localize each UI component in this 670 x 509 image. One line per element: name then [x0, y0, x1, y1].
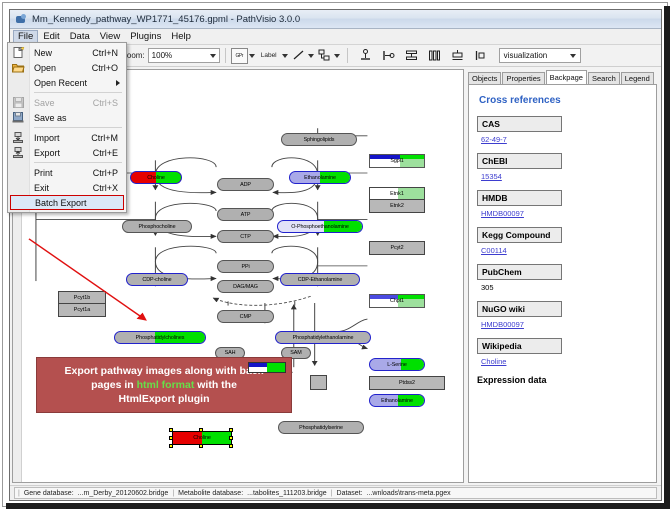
status-gene-db-label: Gene database:	[24, 490, 74, 497]
menu-item-label: Export	[34, 148, 60, 158]
xref-value-chebi[interactable]: 15354	[481, 172, 648, 181]
menu-item-accelerator: Ctrl+O	[92, 63, 118, 73]
stack-icon	[428, 49, 441, 62]
menu-item-export[interactable]: Export Ctrl+E	[8, 145, 126, 160]
shape-button[interactable]	[316, 48, 333, 64]
chevron-down-icon	[210, 54, 216, 58]
import-icon	[12, 132, 25, 143]
menu-item-accelerator: Ctrl+P	[93, 168, 118, 178]
save-disk-icon	[12, 97, 25, 108]
label-button-text: Label	[261, 52, 277, 59]
menu-item-batch-export[interactable]: Batch Export	[10, 195, 124, 210]
menu-item-import[interactable]: Import Ctrl+M	[8, 130, 126, 145]
status-bar: | Gene database: ...m_Derby_20120602.bri…	[10, 485, 661, 500]
geneproduct-dropdown[interactable]	[248, 48, 257, 64]
align-middle-button[interactable]	[380, 48, 397, 64]
menu-item-save: Save Ctrl+S	[8, 95, 126, 110]
status-bar-content: | Gene database: ...m_Derby_20120602.bri…	[14, 487, 657, 499]
menu-separator	[34, 92, 122, 93]
cross-references-heading: Cross references	[479, 95, 648, 106]
backpage-content[interactable]: Cross references CAS 62-49-7 ChEBI 15354…	[468, 84, 657, 483]
status-gene-db-value: ...m_Derby_20120602.bridge	[78, 490, 169, 497]
order-button[interactable]	[472, 48, 489, 64]
xref-value-pubchem: 305	[481, 283, 648, 292]
menu-item-print[interactable]: Print Ctrl+P	[8, 165, 126, 180]
menu-item-label: Exit	[34, 183, 49, 193]
toolbar-separator-2	[347, 48, 348, 63]
node-anchor-box[interactable]	[310, 375, 327, 390]
tab-backpage[interactable]: Backpage	[546, 70, 587, 84]
status-metabolite-db-value: ...tabolites_111203.bridge	[247, 490, 327, 497]
save-as-icon	[12, 112, 25, 123]
side-panel: Objects Properties Backpage Search Legen…	[466, 69, 659, 483]
menu-item-new[interactable]: New Ctrl+N	[8, 45, 126, 60]
line-icon	[292, 49, 305, 62]
status-divider: |	[18, 490, 20, 497]
menu-separator	[34, 127, 122, 128]
menu-item-accelerator: Ctrl+E	[93, 148, 118, 158]
stack-button[interactable]	[426, 48, 443, 64]
menu-item-label: Batch Export	[35, 198, 87, 208]
visualization-combo[interactable]: visualization	[499, 48, 581, 63]
zoom-combo[interactable]: 100%	[148, 48, 220, 63]
status-divider: |	[172, 490, 174, 497]
xref-value-cas[interactable]: 62-49-7	[481, 135, 648, 144]
geneproduct-button[interactable]: GPr	[231, 48, 248, 64]
menu-item-exit[interactable]: Exit Ctrl+X	[8, 180, 126, 195]
pathvisio-icon	[15, 13, 27, 25]
menu-item-save-as[interactable]: Save as	[8, 110, 126, 125]
tab-objects[interactable]: Objects	[468, 72, 501, 84]
distribute-icon	[405, 49, 418, 62]
menu-item-open-recent[interactable]: Open Recent	[8, 75, 126, 90]
align-top-icon	[359, 49, 372, 62]
menu-item-label: New	[34, 48, 52, 58]
menu-item-label: Save as	[34, 113, 67, 123]
status-divider: |	[331, 490, 333, 497]
shape-dropdown[interactable]	[333, 48, 342, 64]
status-metabolite-db-label: Metabolite database:	[178, 490, 243, 497]
geneproduct-icon: GPr	[235, 53, 242, 59]
tab-legend[interactable]: Legend	[621, 72, 654, 84]
frame-shadow-bottom	[6, 503, 670, 509]
xref-header-wikipedia: Wikipedia	[477, 338, 562, 354]
xref-value-kegg-compound[interactable]: C00114	[481, 246, 648, 255]
xref-header-kegg-compound: Kegg Compound	[477, 227, 562, 243]
xref-header-pubchem: PubChem	[477, 264, 562, 280]
menu-item-accelerator: Ctrl+X	[93, 183, 118, 193]
menu-item-label: Print	[34, 168, 53, 178]
menu-item-label: Import	[34, 133, 60, 143]
frame-shadow-right	[664, 6, 670, 509]
shape-icon	[318, 49, 331, 62]
xref-value-hmdb[interactable]: HMDB00097	[481, 209, 648, 218]
menu-separator	[34, 162, 122, 163]
expression-data-heading: Expression data	[477, 375, 648, 385]
zoom-value: 100%	[152, 51, 172, 60]
status-dataset-label: Dataset:	[337, 490, 363, 497]
menu-item-label: Open Recent	[34, 78, 87, 88]
screenshot-root: Mm_Kennedy_pathway_WP1771_45176.gpml - P…	[0, 0, 670, 509]
node-pemt[interactable]	[248, 362, 286, 373]
tab-properties[interactable]: Properties	[502, 72, 544, 84]
export-icon	[12, 147, 25, 158]
visualization-value: visualization	[504, 51, 548, 60]
label-button[interactable]: Label	[257, 48, 281, 64]
xref-header-cas: CAS	[477, 116, 562, 132]
distribute-button[interactable]	[403, 48, 420, 64]
order-icon	[474, 49, 487, 62]
status-dataset-value: ...wnloads\trans-meta.pgex	[367, 490, 451, 497]
menu-item-label: Open	[34, 63, 56, 73]
xref-value-nugo-wiki[interactable]: HMDB00097	[481, 320, 648, 329]
open-folder-icon	[12, 62, 25, 73]
group-icon	[451, 49, 464, 62]
group-button[interactable]	[449, 48, 466, 64]
menu-item-accelerator: Ctrl+N	[92, 48, 118, 58]
side-panel-tabs: Objects Properties Backpage Search Legen…	[466, 69, 659, 84]
menu-item-accelerator: Ctrl+S	[93, 98, 118, 108]
window-title: Mm_Kennedy_pathway_WP1771_45176.gpml - P…	[32, 14, 300, 25]
align-middle-icon	[382, 49, 395, 62]
label-dropdown[interactable]	[281, 48, 290, 64]
menu-plugins[interactable]: Plugins	[125, 30, 166, 43]
submenu-arrow-icon	[116, 80, 120, 86]
new-file-icon	[12, 47, 25, 58]
xref-header-chebi: ChEBI	[477, 153, 562, 169]
xref-value-wikipedia[interactable]: Choline	[481, 357, 648, 366]
tab-search[interactable]: Search	[588, 72, 620, 84]
file-menu-dropdown[interactable]: New Ctrl+N Open Ctrl+O Open Recent Save …	[7, 42, 127, 213]
menu-item-accelerator: Ctrl+M	[91, 133, 118, 143]
title-bar: Mm_Kennedy_pathway_WP1771_45176.gpml - P…	[10, 10, 661, 29]
align-top-button[interactable]	[357, 48, 374, 64]
chevron-down-icon	[570, 54, 576, 58]
line-dropdown[interactable]	[307, 48, 316, 64]
menu-item-open[interactable]: Open Ctrl+O	[8, 60, 126, 75]
xref-header-nugo-wiki: NuGO wiki	[477, 301, 562, 317]
menu-item-label: Save	[34, 98, 55, 108]
toolbar-separator	[225, 48, 226, 63]
menu-help[interactable]: Help	[166, 30, 196, 43]
xref-header-hmdb: HMDB	[477, 190, 562, 206]
gene-fill-right	[267, 363, 285, 372]
line-button[interactable]	[290, 48, 307, 64]
